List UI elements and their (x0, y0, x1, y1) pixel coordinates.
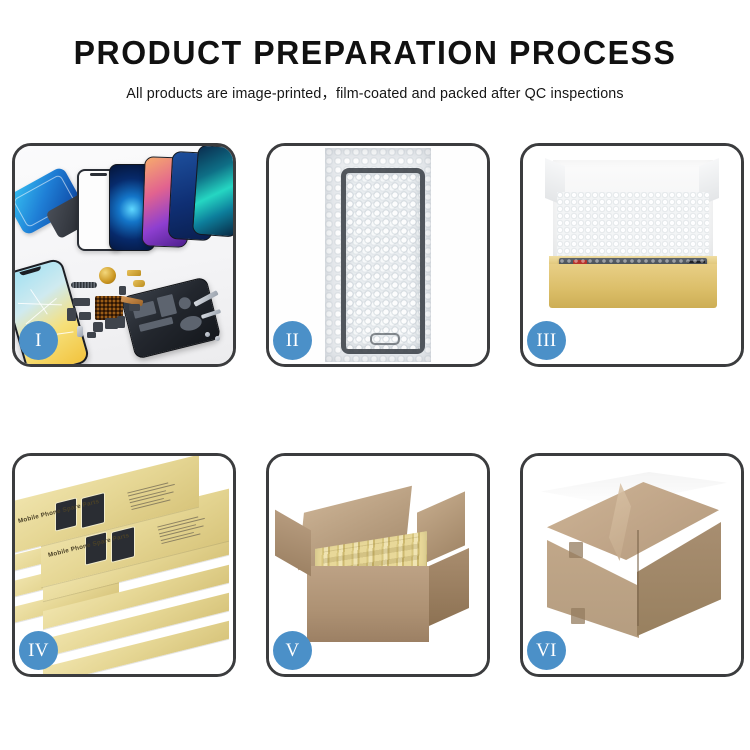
step-badge-4: IV (19, 631, 58, 670)
step-panel-2[interactable]: II (266, 143, 490, 367)
step-panel-1[interactable]: I (12, 143, 236, 367)
step-panel-3[interactable]: III (520, 143, 744, 367)
step-badge-3: III (527, 321, 566, 360)
page-title: PRODUCT PREPARATION PROCESS (11, 0, 739, 71)
step-badge-5: V (273, 631, 312, 670)
foam-padding-icon (557, 192, 709, 266)
carton-sticker-upper (569, 542, 583, 558)
phone-glass-panel-icon (341, 168, 425, 354)
step-panel-6[interactable]: VI (520, 453, 744, 677)
step-panel-5[interactable]: V (266, 453, 490, 677)
carton-sticker-lower (571, 608, 585, 624)
page-subtitle: All products are image-printed，film-coat… (8, 71, 743, 103)
step-badge-1: I (19, 321, 58, 360)
carton-front-icon (307, 566, 429, 642)
process-steps-grid: I II (12, 143, 738, 683)
carton-corner-seam (637, 530, 639, 626)
step-panel-4[interactable]: Mobile Phone Spare Parts Mobile Phone Sp… (12, 453, 236, 677)
header: PRODUCT PREPARATION PROCESS All products… (0, 0, 750, 103)
product-preparation-infographic: PRODUCT PREPARATION PROCESS All products… (0, 0, 750, 750)
kraft-box-front-icon (549, 264, 717, 308)
bubble-wrap-sheet-icon (325, 148, 431, 362)
step-badge-2: II (273, 321, 312, 360)
bubble-texture-overlay (346, 173, 420, 349)
step-badge-6: VI (527, 631, 566, 670)
